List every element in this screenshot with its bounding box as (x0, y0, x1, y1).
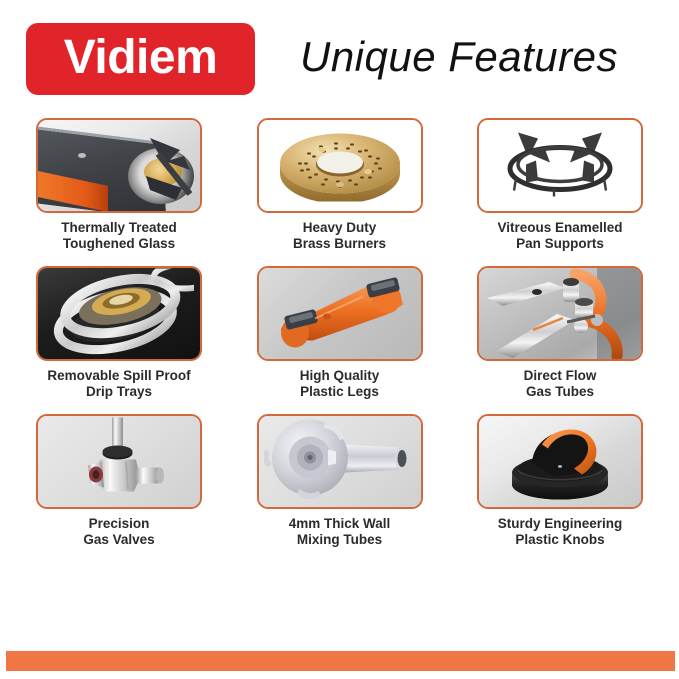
feature-card-sturdy-engineering-plastic-knobs: Sturdy Engineering Plastic Knobs (467, 414, 653, 549)
enamelled-pan-support-photo (477, 118, 643, 213)
feature-card-precision-gas-valves: Precision Gas Valves (26, 414, 212, 549)
pan-support-overlay-icon (140, 130, 196, 208)
orange-plastic-leg-photo (257, 266, 423, 361)
feature-row-2: Removable Spill Proof Drip Trays (26, 266, 653, 401)
gas-tube-icon (479, 268, 641, 359)
feature-card-heavy-duty-brass-burners: Heavy Duty Brass Burners (247, 118, 433, 253)
feature-caption: Direct Flow Gas Tubes (524, 368, 597, 401)
feature-card-high-quality-plastic-legs: High Quality Plastic Legs (247, 266, 433, 401)
precision-gas-valve-photo (36, 414, 202, 509)
brand-logo-text: Vidiem (64, 34, 218, 84)
feature-row-3: Precision Gas Valves (26, 414, 653, 549)
feature-caption: Thermally Treated Toughened Glass (61, 220, 177, 253)
drip-tray-icon (44, 269, 194, 357)
feature-caption: High Quality Plastic Legs (300, 368, 380, 401)
feature-card-vitreous-enamelled-pan-supports: Vitreous Enamelled Pan Supports (467, 118, 653, 253)
mixing-tube-icon (264, 418, 416, 500)
feature-caption: Heavy Duty Brass Burners (293, 220, 386, 253)
brass-burner-icon (276, 125, 404, 201)
feature-card-thermally-treated-toughened-glass: Thermally Treated Toughened Glass (26, 118, 212, 253)
plastic-knob-icon (498, 419, 622, 503)
feature-card-4mm-thick-wall-mixing-tubes: 4mm Thick Wall Mixing Tubes (247, 414, 433, 549)
feature-grid: Thermally Treated Toughened Glass (0, 118, 679, 549)
page-title: Unique Features (255, 33, 653, 85)
feature-caption: Removable Spill Proof Drip Trays (47, 368, 190, 401)
gas-valve-icon (64, 416, 174, 502)
feature-card-removable-spill-proof-drip-trays: Removable Spill Proof Drip Trays (26, 266, 212, 401)
feature-caption: Sturdy Engineering Plastic Knobs (498, 516, 623, 549)
toughened-glass-cooktop-photo (36, 118, 202, 213)
page-header: Vidiem Unique Features (0, 0, 679, 118)
brass-burner-ring-photo (257, 118, 423, 213)
feature-caption: 4mm Thick Wall Mixing Tubes (289, 516, 391, 549)
feature-row-1: Thermally Treated Toughened Glass (26, 118, 653, 253)
plastic-leg-icon (267, 271, 413, 351)
direct-flow-gas-tube-photo (477, 266, 643, 361)
mixing-tube-photo (257, 414, 423, 509)
engineering-plastic-knob-photo (477, 414, 643, 509)
footer-accent-bar (6, 651, 675, 671)
spill-proof-drip-tray-photo (36, 266, 202, 361)
feature-caption: Vitreous Enamelled Pan Supports (497, 220, 622, 253)
feature-card-direct-flow-gas-tubes: Direct Flow Gas Tubes (467, 266, 653, 401)
brand-logo: Vidiem (26, 23, 255, 95)
pan-support-icon (492, 122, 628, 204)
feature-caption: Precision Gas Valves (83, 516, 154, 549)
